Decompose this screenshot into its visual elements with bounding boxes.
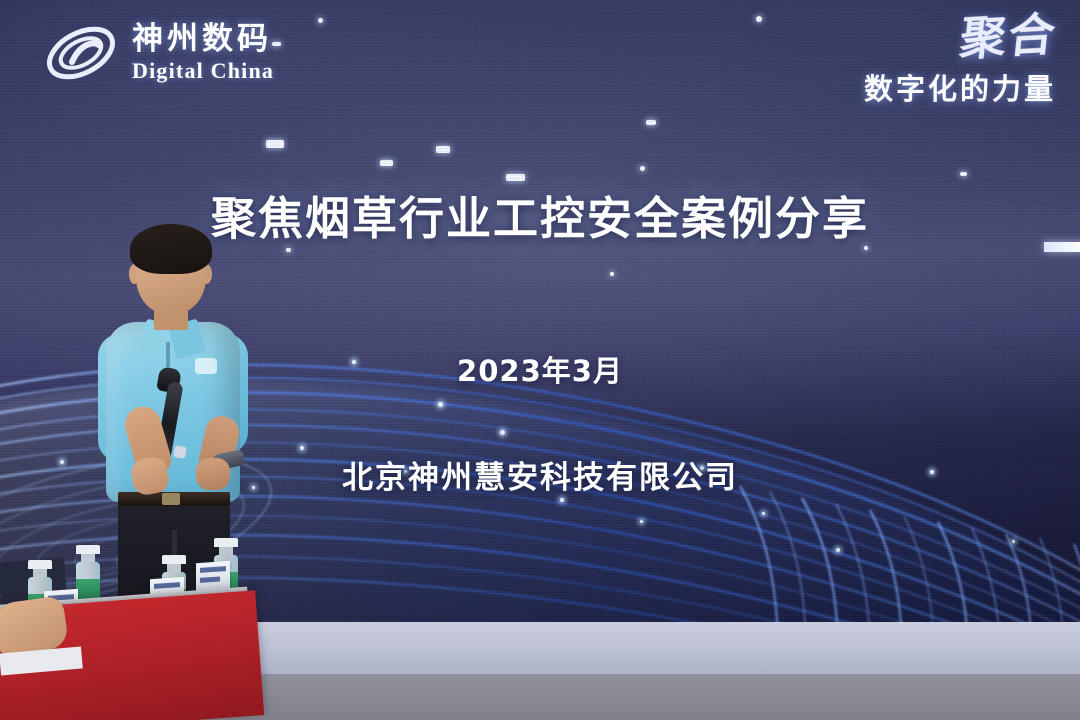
conference-stage-photo: 神州数码 Digital China 聚合 数字化的力量 聚焦烟草行业工控安全案… [0, 0, 1080, 720]
logo-name-en: Digital China [132, 60, 274, 82]
placard-line [200, 576, 220, 582]
bottle-cap [214, 538, 238, 547]
accent-bar [1044, 242, 1080, 252]
bottle-neck [33, 569, 47, 577]
speaker-right-hand [196, 458, 230, 490]
placard-line [200, 566, 226, 573]
bottle-neck [81, 554, 95, 562]
bottle-neck [167, 564, 181, 572]
event-brand-calligraphy: 聚合 [861, 13, 1059, 67]
event-brand-tagline: 数字化的力量 [864, 66, 1056, 108]
bottle-cap [162, 555, 186, 564]
speaker-hair [130, 224, 212, 274]
bottle-cap [28, 560, 52, 569]
logo-name-cn: 神州数码 [132, 24, 274, 55]
bottle-neck [219, 547, 233, 555]
belt-buckle [162, 493, 180, 505]
digital-china-swirl-logo [44, 22, 118, 84]
bottle-cap [76, 545, 100, 554]
placard-line [154, 582, 180, 589]
digital-china-logo: 神州数码 Digital China [44, 22, 274, 84]
event-brand-lockup: 聚合 数字化的力量 [864, 18, 1056, 108]
microphone-tip [173, 445, 187, 459]
bottle-label [76, 579, 100, 599]
shirt-chest-logo [195, 358, 217, 374]
digital-china-wordmark: 神州数码 Digital China [132, 24, 274, 82]
